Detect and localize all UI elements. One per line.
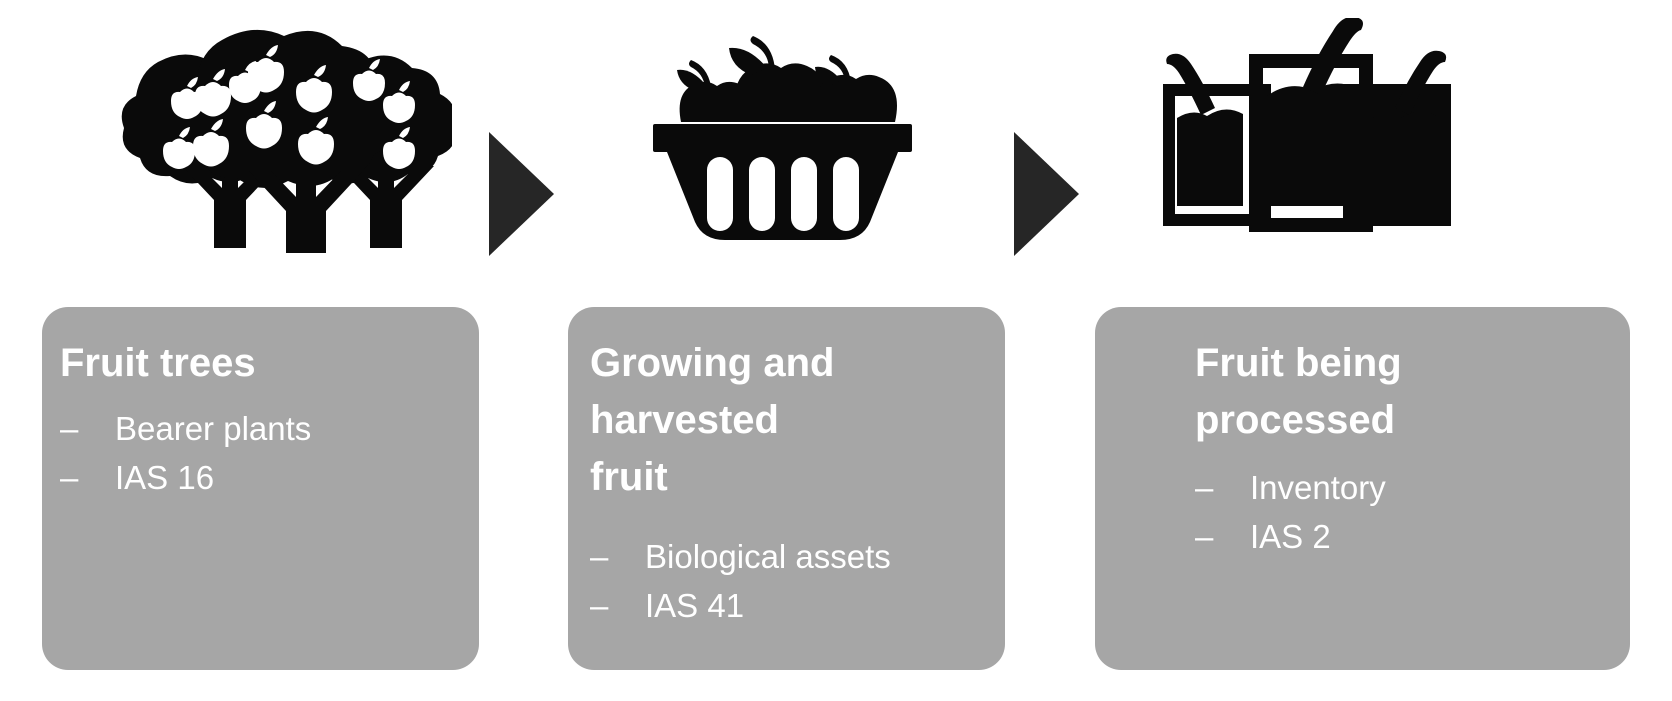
list-item: – IAS 2 <box>1195 512 1606 561</box>
fruit-trees-icon <box>62 18 452 253</box>
arrow-triangle <box>1014 132 1079 256</box>
bullet-label: Biological assets <box>645 532 981 581</box>
list-item: – IAS 41 <box>590 581 981 630</box>
stage-card-growing-harvested-fruit[interactable]: Growing and harvested fruit – Biological… <box>568 307 1005 670</box>
bullet-dash-icon: – <box>1195 463 1250 512</box>
list-item: – IAS 16 <box>60 453 455 502</box>
diagram-canvas: Fruit trees – Bearer plants – IAS 16 Gro… <box>0 0 1672 701</box>
fruit-basket-icon <box>645 18 920 253</box>
bullet-label: Inventory <box>1250 463 1606 512</box>
arrow-stage-2-to-3 <box>1014 132 1084 257</box>
bullet-dash-icon: – <box>60 453 115 502</box>
bullet-label: IAS 16 <box>115 453 455 502</box>
bullet-label: IAS 41 <box>645 581 981 630</box>
bullet-dash-icon: – <box>60 404 115 453</box>
bullet-dash-icon: – <box>1195 512 1250 561</box>
stage-bullet-list: – Bearer plants – IAS 16 <box>60 404 455 502</box>
stage-bullet-list: – Inventory – IAS 2 <box>1195 463 1606 561</box>
stage-title: Growing and harvested fruit <box>590 335 981 506</box>
bullet-label: Bearer plants <box>115 404 455 453</box>
arrow-triangle <box>489 132 554 256</box>
bullet-label: IAS 2 <box>1250 512 1606 561</box>
stage-title: Fruit trees <box>60 335 455 392</box>
stage-bullet-list: – Biological assets – IAS 41 <box>590 532 981 630</box>
list-item: – Bearer plants <box>60 404 455 453</box>
bullet-dash-icon: – <box>590 532 645 581</box>
stage-card-fruit-trees[interactable]: Fruit trees – Bearer plants – IAS 16 <box>42 307 479 670</box>
stage-card-fruit-being-processed[interactable]: Fruit being processed – Inventory – IAS … <box>1095 307 1630 670</box>
list-item: – Inventory <box>1195 463 1606 512</box>
bullet-dash-icon: – <box>590 581 645 630</box>
juice-glasses-icon <box>1145 18 1465 240</box>
stage-title: Fruit being processed <box>1195 335 1606 449</box>
arrow-stage-1-to-2 <box>489 132 559 257</box>
list-item: – Biological assets <box>590 532 981 581</box>
